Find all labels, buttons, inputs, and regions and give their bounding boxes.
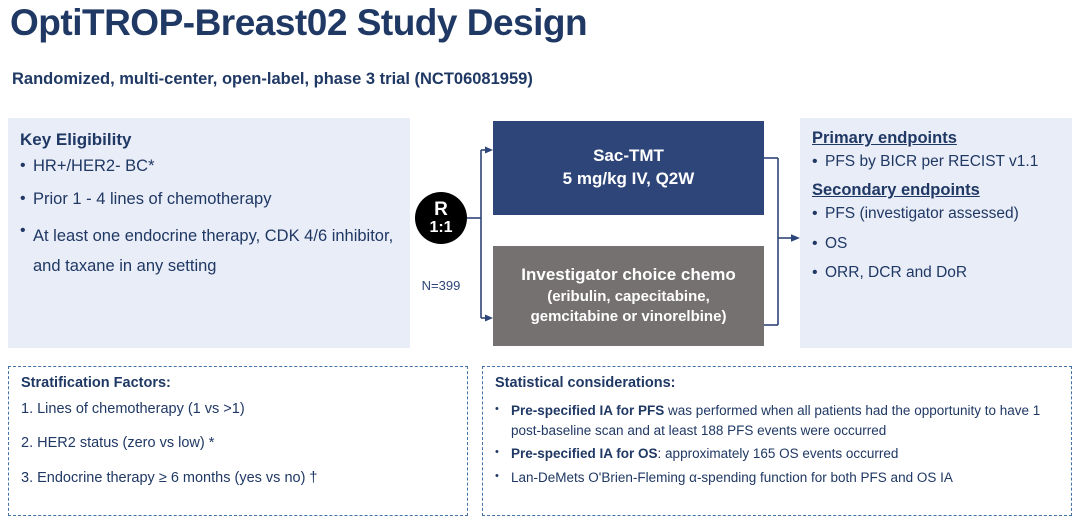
bullet-icon: • [495, 444, 511, 462]
statistics-item-2-bold: Pre-specified IA for OS [511, 446, 658, 461]
list-item: • Pre-specified IA for OS: approximately… [495, 444, 1061, 464]
stratification-heading: Stratification Factors: [21, 375, 457, 391]
primary-endpoints-heading: Primary endpoints [812, 129, 1060, 149]
randomization-label: R [434, 200, 448, 219]
statistics-item-3-rest: Lan-DeMets O'Brien-Fleming α-spending fu… [511, 470, 953, 485]
bullet-icon: • [812, 234, 825, 254]
list-item: • HR+/HER2- BC* [20, 156, 398, 177]
eligibility-item-1: HR+/HER2- BC* [33, 156, 398, 177]
bullet-icon: • [495, 401, 511, 419]
statistics-item-1: Pre-specified IA for PFS was performed w… [511, 401, 1061, 440]
arm-experimental-drug: Sac-TMT [593, 145, 664, 168]
endpoints-panel: Primary endpoints • PFS by BICR per RECI… [800, 118, 1072, 348]
eligibility-item-2: Prior 1 - 4 lines of chemotherapy [33, 189, 398, 210]
statistics-item-2-rest: : approximately 165 OS events occurred [658, 446, 899, 461]
randomization-node: R 1:1 [415, 192, 467, 244]
statistics-item-2: Pre-specified IA for OS: approximately 1… [511, 444, 1061, 464]
bullet-icon: • [20, 189, 33, 209]
key-eligibility-panel: Key Eligibility • HR+/HER2- BC* • Prior … [8, 118, 410, 348]
list-item: • Pre-specified IA for PFS was performed… [495, 401, 1061, 440]
statistical-considerations-box: Statistical considerations: • Pre-specif… [482, 366, 1072, 516]
statistics-item-3: Lan-DeMets O'Brien-Fleming α-spending fu… [511, 468, 1061, 488]
list-item: • OS [812, 234, 1060, 254]
arm-experimental-box: Sac-TMT 5 mg/kg IV, Q2W [493, 121, 764, 215]
statistics-heading: Statistical considerations: [495, 375, 1061, 391]
arm-experimental-dose: 5 mg/kg IV, Q2W [563, 168, 695, 191]
stratification-factors-box: Stratification Factors: 1. Lines of chem… [8, 366, 468, 516]
primary-endpoint-1: PFS by BICR per RECIST v1.1 [825, 152, 1060, 172]
secondary-endpoint-3: ORR, DCR and DoR [825, 263, 1060, 283]
arm-control-title: Investigator choice chemo [521, 264, 735, 287]
statistics-item-1-bold: Pre-specified IA for PFS [511, 403, 664, 418]
list-item: • PFS (investigator assessed) [812, 204, 1060, 224]
bullet-icon: • [812, 152, 825, 172]
secondary-endpoint-1: PFS (investigator assessed) [825, 204, 1060, 224]
page-title: OptiTROP-Breast02 Study Design [10, 2, 587, 44]
stratification-item-2: 2. HER2 status (zero vs low) * [21, 435, 457, 452]
secondary-endpoint-2: OS [825, 234, 1060, 254]
bullet-icon: • [20, 221, 33, 241]
bullet-icon: • [495, 468, 511, 486]
randomization-ratio: 1:1 [429, 220, 452, 236]
arm-control-box: Investigator choice chemo (eribulin, cap… [493, 246, 764, 346]
eligibility-heading: Key Eligibility [20, 130, 398, 150]
eligibility-item-3: At least one endocrine therapy, CDK 4/6 … [33, 221, 398, 282]
stratification-item-1: 1. Lines of chemotherapy (1 vs >1) [21, 401, 457, 418]
secondary-endpoints-heading: Secondary endpoints [812, 181, 1060, 201]
page-subtitle: Randomized, multi-center, open-label, ph… [12, 70, 533, 89]
list-item: • At least one endocrine therapy, CDK 4/… [20, 221, 398, 282]
bullet-icon: • [20, 156, 33, 176]
bullet-icon: • [812, 263, 825, 283]
list-item: • Lan-DeMets O'Brien-Fleming α-spending … [495, 468, 1061, 488]
list-item: • PFS by BICR per RECIST v1.1 [812, 152, 1060, 172]
list-item: • ORR, DCR and DoR [812, 263, 1060, 283]
sample-size-label: N=399 [408, 278, 474, 293]
stratification-item-3: 3. Endocrine therapy ≥ 6 months (yes vs … [21, 470, 457, 487]
arm-control-drugs-2: gemcitabine or vinorelbine) [531, 307, 727, 327]
arm-control-drugs-1: (eribulin, capecitabine, [547, 287, 710, 307]
list-item: • Prior 1 - 4 lines of chemotherapy [20, 189, 398, 210]
bullet-icon: • [812, 204, 825, 224]
